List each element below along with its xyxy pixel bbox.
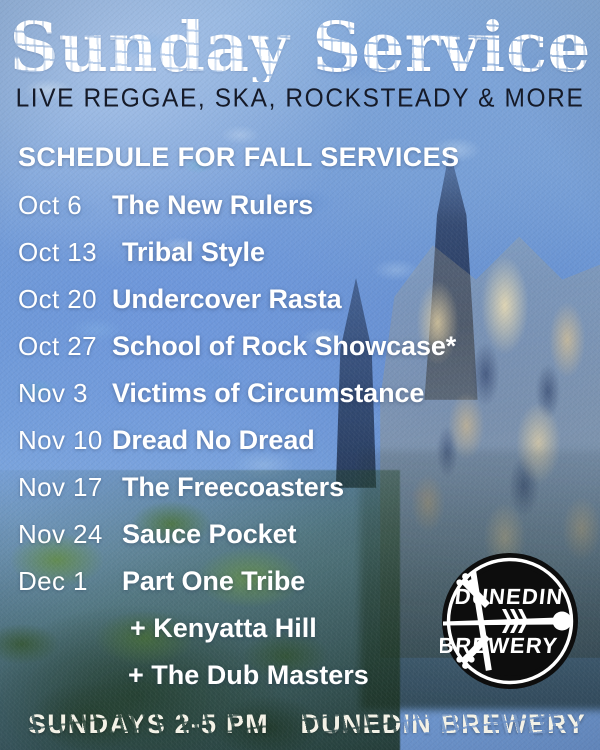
schedule-row: Oct 27 School of Rock Showcase*: [0, 323, 600, 370]
schedule-date: Nov 17: [18, 472, 110, 503]
schedule-band: Dread No Dread: [112, 425, 315, 456]
schedule-heading: SCHEDULE FOR FALL SERVICES: [18, 142, 459, 173]
schedule-date: Dec 1: [18, 566, 110, 597]
schedule-row: Oct 6 The New Rulers: [0, 182, 600, 229]
poster-subtitle: LIVE REGGAE, SKA, ROCKSTEADY & MORE: [0, 84, 600, 114]
logo-line1: DUNEDIN: [454, 584, 565, 609]
schedule-row: Oct 20 Undercover Rasta: [0, 276, 600, 323]
footer-time: SUNDAYS 2-5 PM: [28, 709, 269, 740]
dunedin-brewery-logo: DUNEDIN BREWERY: [440, 551, 580, 691]
schedule-row: Oct 13 Tribal Style: [0, 229, 600, 276]
schedule-band: Tribal Style: [122, 237, 265, 268]
schedule-band: The New Rulers: [112, 190, 313, 221]
schedule-date: Nov 10: [18, 425, 110, 456]
schedule-date: Nov 24: [18, 519, 110, 550]
schedule-row: Nov 17 The Freecoasters: [0, 464, 600, 511]
poster-content: Sunday Service LIVE REGGAE, SKA, ROCKSTE…: [0, 0, 600, 750]
schedule-date: Oct 6: [18, 190, 110, 221]
event-poster: Sunday Service LIVE REGGAE, SKA, ROCKSTE…: [0, 0, 600, 750]
schedule-date: Nov 3: [18, 378, 110, 409]
schedule-date: Oct 27: [18, 331, 110, 362]
schedule-band: Sauce Pocket: [122, 519, 296, 550]
schedule-band: Part One Tribe: [122, 566, 305, 597]
schedule-band: The Freecoasters: [122, 472, 344, 503]
support-act: + The Dub Masters: [128, 660, 369, 691]
schedule-band: Victims of Circumstance: [112, 378, 424, 409]
schedule-band: Undercover Rasta: [112, 284, 342, 315]
footer-venue: DUNEDIN BREWERY: [300, 709, 586, 740]
schedule-date: Oct 13: [18, 237, 110, 268]
schedule-band: School of Rock Showcase*: [112, 331, 456, 362]
schedule-row: Nov 3 Victims of Circumstance: [0, 370, 600, 417]
schedule-row: Nov 10 Dread No Dread: [0, 417, 600, 464]
schedule-date: Oct 20: [18, 284, 110, 315]
logo-line2: BREWERY: [440, 633, 559, 658]
poster-title: Sunday Service: [10, 14, 591, 82]
support-act: + Kenyatta Hill: [130, 613, 317, 644]
title-block: Sunday Service LIVE REGGAE, SKA, ROCKSTE…: [0, 14, 600, 113]
